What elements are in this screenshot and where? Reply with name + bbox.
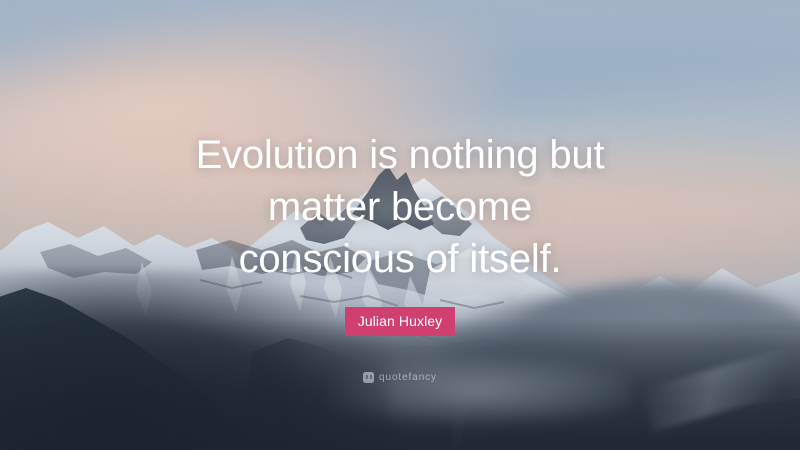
poster-content: Evolution is nothing but matter become c… [0,0,800,450]
watermark[interactable]: quotefancy [363,372,437,383]
author-badge: Julian Huxley [345,307,456,336]
quote-line-2: matter become [60,181,740,233]
watermark-label: quotefancy [379,372,437,383]
quote-poster: Evolution is nothing but matter become c… [0,0,800,450]
quotefancy-logo-icon [363,372,374,383]
quote-line-1: Evolution is nothing but [60,129,740,181]
quote-line-3: conscious of itself. [60,233,740,285]
